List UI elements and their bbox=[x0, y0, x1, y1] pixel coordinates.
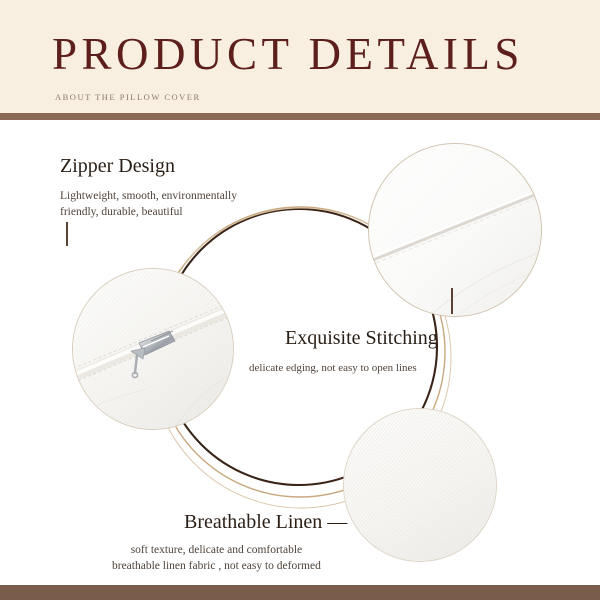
zipper-section-body: Lightweight, smooth, environmentally fri… bbox=[60, 188, 237, 220]
linen-body-line-1: soft texture, delicate and comfortable bbox=[112, 542, 321, 558]
stitching-photo-art bbox=[369, 144, 541, 316]
linen-photo-art bbox=[344, 409, 496, 561]
stitching-closeup-photo bbox=[368, 143, 542, 317]
zipper-body-line-2: friendly, durable, beautiful bbox=[60, 206, 183, 218]
zipper-connector-tick bbox=[66, 222, 68, 246]
zipper-body-line-1: Lightweight, smooth, environmentally bbox=[60, 190, 237, 202]
header-divider bbox=[0, 113, 600, 120]
stitching-section-title: Exquisite Stitching bbox=[285, 327, 438, 350]
page-subtitle: ABOUT THE PILLOW COVER bbox=[55, 92, 201, 102]
zipper-section-title: Zipper Design bbox=[60, 155, 175, 178]
stitching-section-body: delicate edging, not easy to open lines bbox=[249, 360, 417, 376]
zipper-photo-art bbox=[73, 269, 233, 429]
page-title: PRODUCT DETAILS bbox=[52, 32, 524, 77]
linen-section-title: Breathable Linen — bbox=[184, 511, 347, 534]
linen-body-line-2: breathable linen fabric , not easy to de… bbox=[112, 558, 321, 574]
linen-section-body: soft texture, delicate and comfortable b… bbox=[112, 542, 321, 574]
product-details-infographic: PRODUCT DETAILS ABOUT THE PILLOW COVER bbox=[0, 0, 600, 600]
stitching-connector-tick bbox=[451, 288, 453, 314]
linen-texture-photo bbox=[343, 408, 497, 562]
zipper-closeup-photo bbox=[72, 268, 234, 430]
footer-divider bbox=[0, 585, 600, 600]
